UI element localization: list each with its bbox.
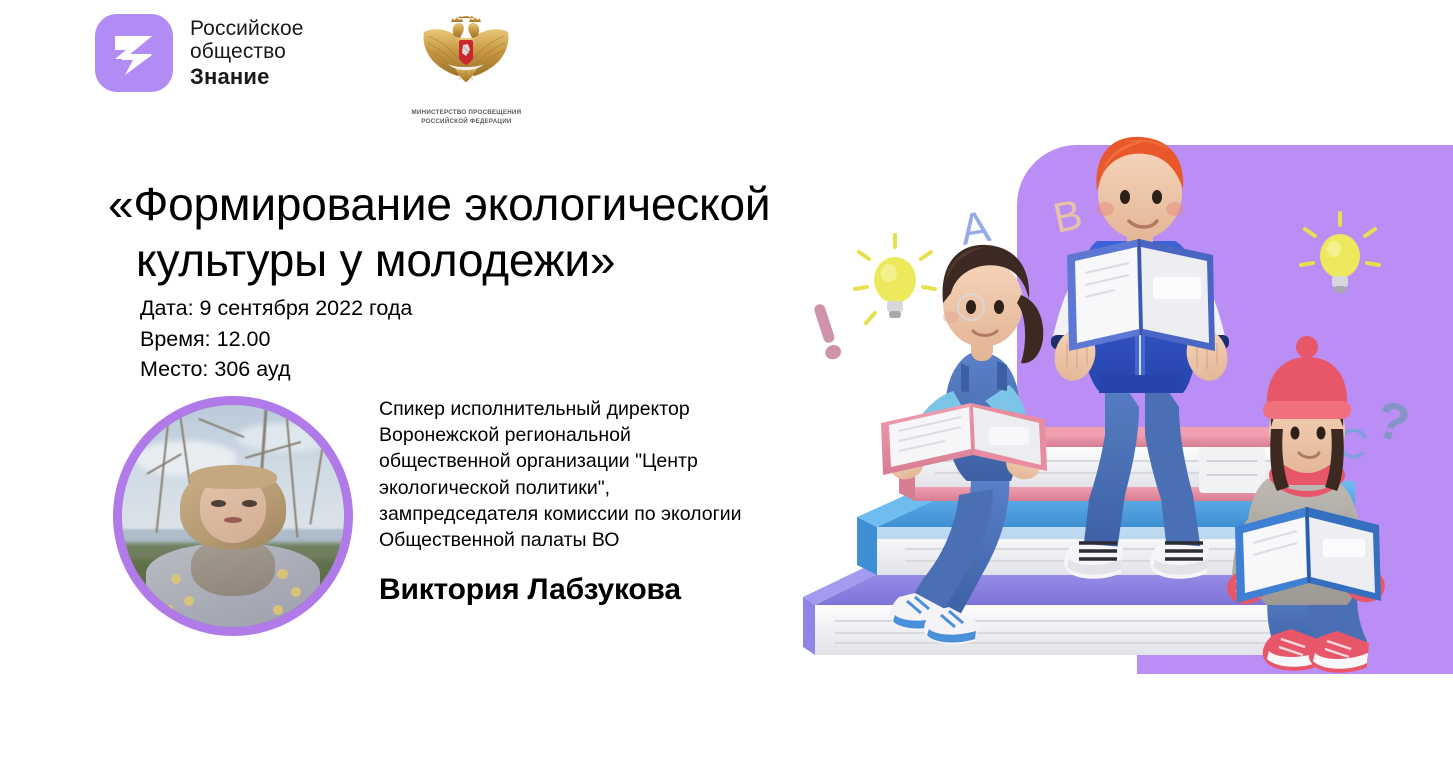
presentation-slide: Российское общество Знание	[0, 0, 1453, 759]
event-time: Время: 12.00	[140, 324, 412, 355]
speaker-photo	[122, 405, 344, 627]
logo-row: Российское общество Знание	[95, 14, 521, 127]
znanie-logo: Российское общество Знание	[95, 14, 304, 92]
speaker-description-line-3: общественной организации "Центр	[379, 448, 849, 474]
speaker-description-line-4: экологической политики",	[379, 475, 849, 501]
sneaker-left-2	[1064, 543, 1123, 579]
students-reading-on-books-3d-illustration: A B C ?	[795, 135, 1453, 695]
speaker-description-line-1: Спикер исполнительный директор	[379, 396, 849, 422]
exclamation-mark-decoration	[810, 302, 843, 361]
znanie-line3: Знание	[190, 64, 304, 89]
znanie-logo-text: Российское общество Знание	[190, 17, 304, 90]
event-details: Дата: 9 сентября 2022 года Время: 12.00 …	[140, 293, 412, 385]
ministry-logo: МИНИСТЕРСТВО ПРОСВЕЩЕНИЯ РОССИЙСКОЙ ФЕДЕ…	[412, 14, 522, 127]
event-place: Место: 306 ауд	[140, 354, 412, 385]
lightbulb-icon-right	[1301, 213, 1379, 293]
ministry-caption: МИНИСТЕРСТВО ПРОСВЕЩЕНИЯ РОССИЙСКОЙ ФЕДЕ…	[412, 108, 522, 127]
znanie-z-lightning-icon	[95, 14, 173, 92]
event-date: Дата: 9 сентября 2022 года	[140, 293, 412, 324]
znanie-line2: общество	[190, 40, 304, 64]
svg-text:?: ?	[1370, 390, 1415, 454]
sneaker-right-2	[1150, 543, 1209, 579]
speaker-description-line-2: Воронежской региональной	[379, 422, 849, 448]
speaker-description-line-5: зампредседателя комиссии по экологии	[379, 501, 849, 527]
speaker-description-line-6: Общественной палаты ВО	[379, 527, 849, 553]
russian-double-headed-eagle-icon	[418, 16, 514, 103]
question-mark-decoration: ?	[1370, 390, 1415, 454]
znanie-line1: Российское	[190, 17, 304, 41]
svg-text:B: B	[1049, 190, 1086, 242]
speaker-description: Спикер исполнительный директор Воронежск…	[379, 396, 849, 553]
speaker-name: Виктория Лабзукова	[379, 573, 681, 607]
speaker-avatar	[113, 396, 353, 636]
ministry-caption-line1: МИНИСТЕРСТВО ПРОСВЕЩЕНИЯ	[412, 108, 522, 117]
blue-open-book	[1067, 239, 1215, 351]
ministry-caption-line2: РОССИЙСКОЙ ФЕДЕРАЦИИ	[412, 117, 522, 126]
letter-b-decoration: B	[1049, 190, 1086, 242]
lightbulb-icon-left	[855, 235, 935, 323]
